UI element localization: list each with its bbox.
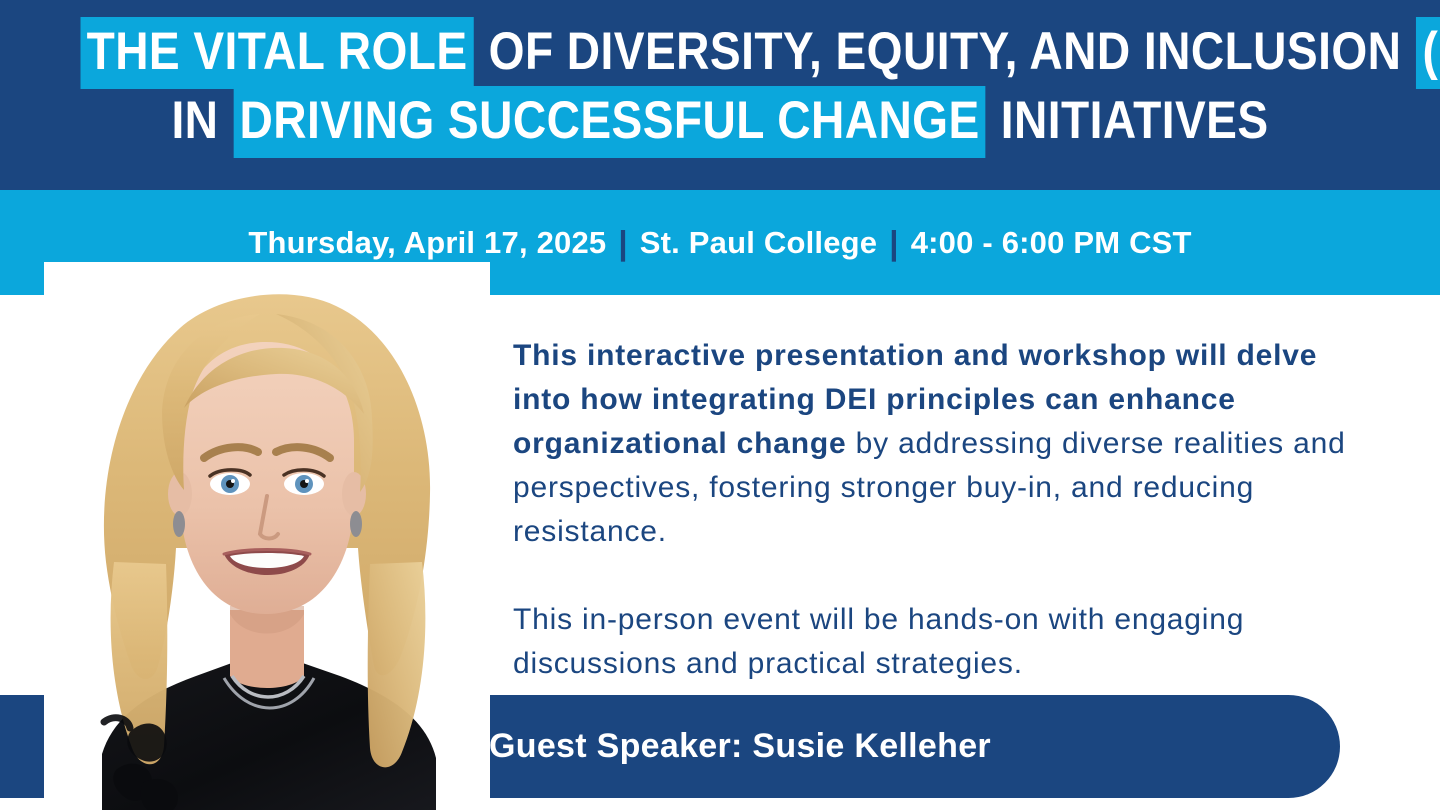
event-time: 4:00 - 6:00 PM CST <box>901 225 1202 261</box>
title-plain-of-diversity: OF DIVERSITY, EQUITY, AND INCLUSION <box>474 17 1417 89</box>
title-highlight-vital-role: THE VITAL ROLE <box>81 17 474 89</box>
portrait-teeth <box>230 553 304 568</box>
description-paragraph-1: This interactive presentation and worksh… <box>513 334 1358 554</box>
portrait-hair-back <box>104 294 430 679</box>
portrait-neck <box>230 610 304 688</box>
event-details-inner: Thursday, April 17, 2025 | St. Paul Coll… <box>238 224 1201 262</box>
title-line-2: IN DRIVING SUCCESSFUL CHANGE INITIATIVES <box>94 87 1347 154</box>
event-details-bar: Thursday, April 17, 2025 | St. Paul Coll… <box>0 190 1440 295</box>
event-description: This interactive presentation and worksh… <box>513 334 1358 686</box>
separator-icon-1: | <box>616 224 629 262</box>
event-flyer: THE VITAL ROLE OF DIVERSITY, EQUITY, AND… <box>0 0 1440 810</box>
portrait-earring-right <box>350 511 362 537</box>
title-line-1: THE VITAL ROLE OF DIVERSITY, EQUITY, AND… <box>81 18 1346 85</box>
portrait-face <box>180 342 354 614</box>
portrait-eyebrow-right <box>276 447 330 458</box>
portrait-mouth <box>224 550 310 576</box>
title-plain-in: IN <box>170 86 234 158</box>
separator-icon-2: | <box>887 224 900 262</box>
title-header: THE VITAL ROLE OF DIVERSITY, EQUITY, AND… <box>0 0 1440 190</box>
portrait-eye-left <box>221 475 239 493</box>
event-date: Thursday, April 17, 2025 <box>238 225 616 261</box>
event-venue: St. Paul College <box>630 225 887 261</box>
title-highlight-dei: (DEI) <box>1416 17 1440 89</box>
portrait-nose <box>260 496 278 539</box>
speaker-name-label: Guest Speaker: Susie Kelleher <box>349 727 991 766</box>
portrait-earring-left <box>173 511 185 537</box>
speaker-banner: Guest Speaker: Susie Kelleher <box>0 695 1340 798</box>
portrait-necklace-1 <box>232 676 304 697</box>
title-highlight-driving-change: DRIVING SUCCESSFUL CHANGE <box>233 86 985 158</box>
portrait-eyebrow-left <box>204 447 258 458</box>
description-paragraph-2: This in-person event will be hands-on wi… <box>513 598 1358 686</box>
portrait-eye-right <box>295 475 313 493</box>
title-plain-initiatives: INITIATIVES <box>986 86 1271 158</box>
